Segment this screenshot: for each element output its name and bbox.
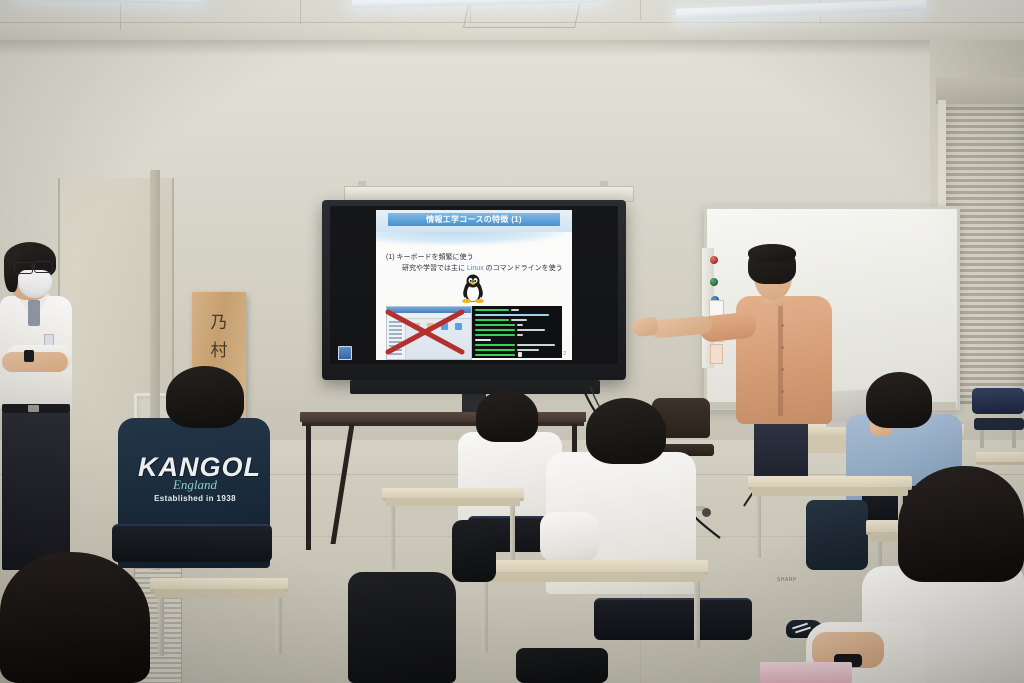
student-arm: [540, 512, 598, 562]
desk-leg: [482, 582, 488, 652]
desk-leg: [510, 506, 515, 568]
student-hair: [898, 466, 1024, 582]
plaque-char-2: 村: [192, 336, 246, 361]
eyeglasses-bridge: [30, 265, 35, 267]
teacher-trousers: [2, 410, 70, 570]
desk-leg: [390, 506, 395, 570]
kangol-logo: KANGOL England Established in 1938: [138, 452, 252, 508]
presenter-fringe: [748, 244, 796, 262]
blind-valance: [936, 78, 1024, 104]
pink-notebook: [760, 662, 852, 683]
desk-apron: [154, 589, 284, 598]
desk-apron: [478, 572, 704, 582]
teacher-wristwatch: [24, 350, 34, 362]
red-cross-out-icon: [382, 308, 468, 356]
slide-bullet-1: (1) キーボードを頻繁に使う: [386, 252, 474, 262]
desk-leg: [756, 496, 761, 558]
presentation-slide: 情報工学コースの特徴 (1) (1) キーボードを頻繁に使う 研究や学習では主に…: [376, 210, 572, 360]
slide-bullet-2: 研究や学習では主に Linux のコマンドラインを使う: [402, 263, 563, 273]
teacher-lanyard: [28, 300, 40, 326]
student-hair: [166, 366, 244, 428]
screen-corner-icon: [338, 346, 352, 360]
whiteboard-sign-lower: [710, 344, 723, 364]
classroom-photo: SHARP 情報工学コースの特徴 (1) (1) キーボードを頻繁に使う 研究や…: [0, 0, 1024, 683]
backpack: [452, 520, 496, 582]
magnet-red[interactable]: [710, 256, 718, 264]
presenter-trousers: [754, 418, 808, 480]
chair-back[interactable]: [112, 524, 272, 562]
teacher-belt-buckle: [28, 405, 39, 412]
student-foreground-left: [0, 552, 150, 683]
magnet-green[interactable]: [710, 278, 718, 286]
teacher-forearm: [2, 352, 68, 372]
slide-title: 情報工学コースの特徴 (1): [426, 214, 522, 225]
slide-header: 情報工学コースの特徴 (1): [376, 210, 572, 250]
display-brand-text: SHARP: [777, 577, 797, 583]
kangol-established-text: Established in 1938: [138, 494, 252, 503]
backpack: [348, 572, 456, 683]
slide-wave-graphic: [376, 232, 572, 254]
student-hair: [866, 372, 932, 428]
student-hair: [586, 398, 666, 464]
desk-leg: [694, 582, 700, 648]
student-hair: [476, 390, 538, 442]
slide-bullet-2-post: のコマンドラインを使う: [484, 265, 563, 272]
table-leg: [306, 424, 311, 550]
bag: [516, 648, 608, 683]
kangol-england-text: England: [138, 477, 252, 493]
chair-back[interactable]: [594, 598, 752, 640]
presenter-shirt-placket: [778, 300, 783, 416]
slide-page-number: 2: [563, 351, 566, 357]
terminal-screenshot: [472, 306, 562, 358]
shoulder-bag: [806, 500, 868, 570]
student-desk: [976, 452, 1024, 465]
slide-title-bar: 情報工学コースの特徴 (1): [388, 213, 560, 226]
long-table-apron: [302, 422, 584, 426]
slide-bullet-2-pre: 研究や学習では主に: [402, 265, 467, 272]
wall-ceiling-shadow: [0, 40, 1024, 56]
stacking-chair[interactable]: [972, 388, 1024, 448]
plaque-char-1: 乃: [192, 308, 246, 333]
eyeglasses-left-lens: [14, 262, 33, 274]
desk-leg: [158, 598, 164, 656]
desk-apron: [386, 498, 520, 506]
desk-leg: [276, 598, 282, 654]
slide-linux-keyword: Linux: [467, 265, 484, 272]
long-folding-table: [300, 412, 586, 422]
eyeglasses-right-lens: [34, 261, 53, 273]
desk-apron: [752, 487, 908, 496]
linux-penguin-icon: [460, 274, 486, 304]
